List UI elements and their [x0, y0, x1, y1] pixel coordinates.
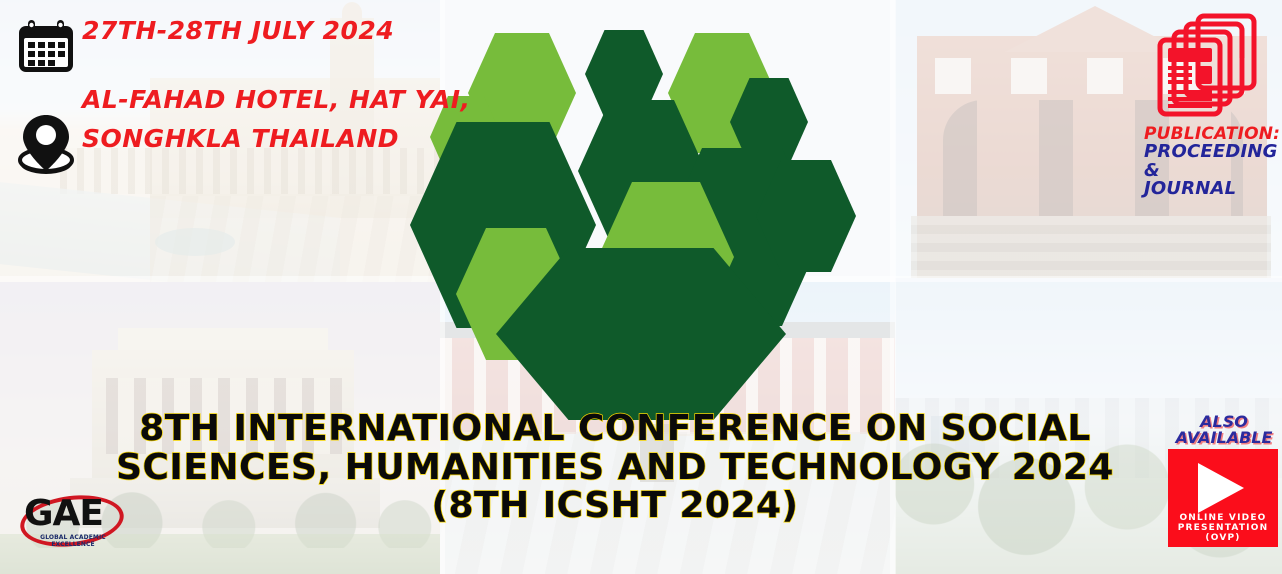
gae-logo: GAE GLOBAL ACADEMIC EXCELLENCE: [16, 492, 126, 558]
date-text-column: 27TH-28TH JULY 2024: [82, 14, 394, 44]
venue-text-column: AL-FAHAD HOTEL, HAT YAI, SONGHKLA THAILA…: [82, 81, 471, 153]
date-icon-column: [10, 14, 82, 81]
ovp-caption-line-1: ONLINE VIDEO: [1168, 513, 1278, 523]
stacked-documents-icon: [1152, 10, 1268, 120]
event-date-row: 27TH-28TH JULY 2024: [10, 14, 430, 81]
venue-icon-column: [10, 81, 82, 182]
online-video-presentation-badge: ALSO AVAILABLE ONLINE VIDEO PRESENTATION…: [1168, 414, 1280, 547]
calendar-icon: [15, 18, 77, 81]
also-line-2: AVAILABLE: [1168, 430, 1280, 446]
title-line-3: (8TH ICSHT 2024): [60, 487, 1170, 526]
event-date: 27TH-28TH JULY 2024: [82, 18, 394, 44]
publication-type-2: JOURNAL: [1144, 180, 1278, 198]
gae-subtitle: GLOBAL ACADEMIC EXCELLENCE: [20, 534, 126, 548]
publication-text: PUBLICATION: PROCEEDING & JOURNAL: [1138, 126, 1278, 198]
gae-wordmark: GAE: [24, 496, 120, 532]
play-triangle-icon: [1198, 463, 1244, 513]
also-available-label: ALSO AVAILABLE: [1168, 414, 1280, 446]
conference-banner: 27TH-28TH JULY 2024 AL-FAHAD HOTEL, HAT …: [0, 0, 1282, 574]
conference-title: 8TH INTERNATIONAL CONFERENCE ON SOCIAL S…: [60, 410, 1170, 526]
video-play-box[interactable]: ONLINE VIDEO PRESENTATION (OVP): [1168, 449, 1278, 547]
event-venue-row: AL-FAHAD HOTEL, HAT YAI, SONGHKLA THAILA…: [10, 81, 430, 182]
venue-line-2: SONGHKLA THAILAND: [82, 126, 471, 152]
location-pin-icon: [15, 111, 77, 182]
title-line-1: 8TH INTERNATIONAL CONFERENCE ON SOCIAL: [60, 410, 1170, 449]
ovp-caption-line-3: (OVP): [1168, 533, 1278, 543]
venue-line-1: AL-FAHAD HOTEL, HAT YAI,: [82, 87, 471, 113]
hexagon-cluster-logo: [400, 0, 860, 420]
event-details: 27TH-28TH JULY 2024 AL-FAHAD HOTEL, HAT …: [10, 14, 430, 182]
title-line-2: SCIENCES, HUMANITIES AND TECHNOLOGY 2024: [60, 449, 1170, 488]
publication-badge: PUBLICATION: PROCEEDING & JOURNAL: [1138, 6, 1278, 198]
publication-type-1: PROCEEDING &: [1144, 143, 1278, 180]
ovp-caption: ONLINE VIDEO PRESENTATION (OVP): [1168, 513, 1278, 543]
ovp-caption-line-2: PRESENTATION: [1168, 523, 1278, 533]
